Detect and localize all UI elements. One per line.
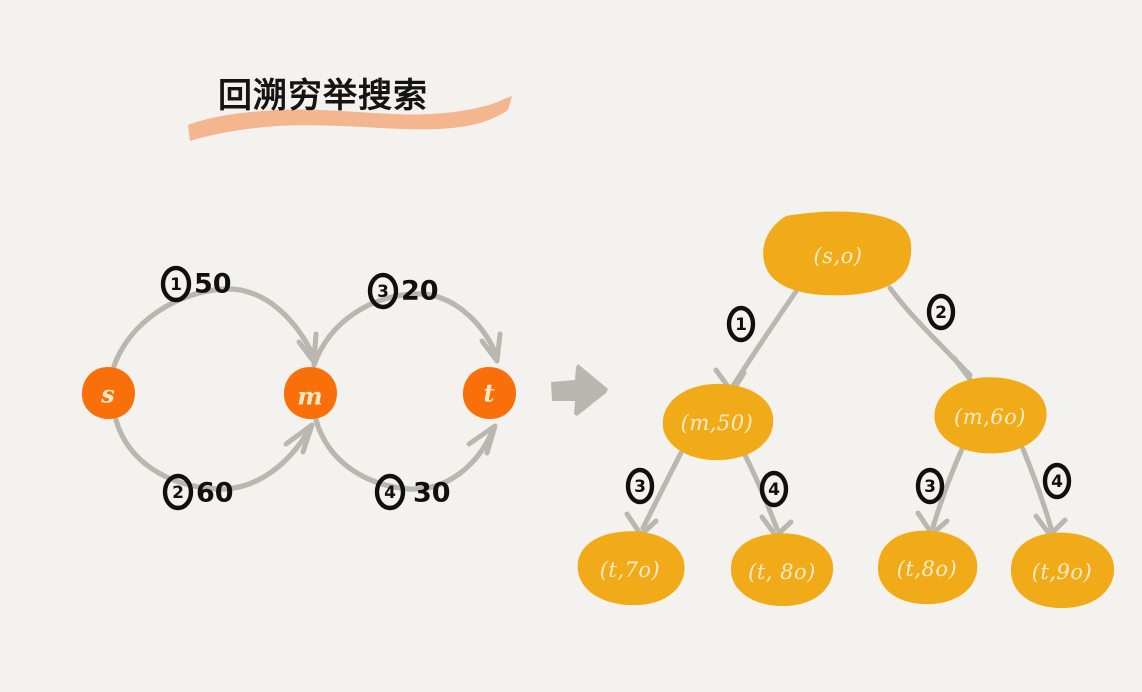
circled-number: 3: [634, 477, 646, 497]
graph-edge-m-t-bottom: [316, 420, 495, 489]
edge-weight: 30: [413, 478, 451, 509]
title-group: 回溯穷举搜索: [188, 76, 512, 141]
circled-number: 4: [384, 483, 396, 503]
circled-number: 2: [935, 303, 947, 323]
tree-edge-label-root-m50: 1: [729, 308, 753, 340]
tree-edge-label-m50-t70: 3: [628, 470, 652, 502]
backtracking-search-tree: (s,o) (m,50) (m,6o) (t,7o) (t, 8o): [578, 211, 1114, 608]
tree-node-root[interactable]: (s,o): [763, 211, 911, 295]
tree-node-label: (t,8o): [897, 557, 958, 581]
tree-node-label: (s,o): [814, 244, 863, 268]
graph-node-label: m: [297, 382, 322, 411]
state-transition-graph: s m t 1 50 2 60: [82, 268, 516, 509]
edge-weight: 60: [196, 478, 234, 509]
graph-node-label: s: [100, 380, 115, 409]
edge-path: [316, 420, 492, 489]
graph-node-t[interactable]: t: [463, 367, 516, 419]
tree-node-label: (t,9o): [1032, 560, 1093, 584]
graph-node-m[interactable]: m: [284, 367, 337, 419]
tree-node-t70[interactable]: (t,7o): [578, 531, 685, 605]
edge-path: [643, 453, 681, 528]
graph-node-label: t: [483, 379, 494, 408]
tree-node-m50[interactable]: (m,50): [663, 384, 773, 460]
graph-edge-label-4: 4 30: [377, 476, 451, 509]
tree-node-t80-left[interactable]: (t, 8o): [731, 533, 833, 606]
tree-edge-label-m60-t80: 3: [918, 470, 942, 502]
tree-node-t80-right[interactable]: (t,8o): [878, 531, 977, 605]
transform-arrow: [551, 364, 608, 416]
tree-node-label: (m,6o): [954, 405, 1026, 429]
tree-node-m60[interactable]: (m,6o): [934, 377, 1046, 453]
whiteboard-canvas: 回溯穷举搜索: [0, 0, 1142, 692]
edge-path: [933, 449, 962, 527]
edge-weight: 20: [401, 276, 439, 307]
circled-number: 4: [768, 480, 780, 500]
edge-path: [114, 289, 313, 366]
tree-node-label: (t,7o): [600, 558, 661, 582]
circled-number: 1: [170, 275, 182, 295]
arrow-right-icon: [551, 364, 608, 416]
graph-edge-s-m-top: [114, 289, 316, 366]
tree-edge-label-root-m60: 2: [929, 296, 953, 328]
tree-node-label: (m,50): [681, 411, 754, 435]
tree-node-t90[interactable]: (t,9o): [1011, 533, 1114, 608]
circled-number: 3: [924, 477, 936, 497]
tree-edge-root-m50: [716, 290, 797, 392]
tree-edge-label-m60-t90: 4: [1045, 465, 1069, 497]
circled-number: 1: [735, 315, 747, 335]
diagram-surface: 回溯穷举搜索: [0, 0, 1142, 692]
tree-node-label: (t, 8o): [748, 560, 816, 584]
tree-edge-m60-t90: [1023, 449, 1065, 535]
circled-number: 3: [377, 282, 389, 302]
circled-number: 2: [172, 483, 184, 503]
edge-weight: 50: [194, 269, 232, 300]
graph-edge-label-1: 1 50: [163, 268, 232, 300]
circled-number: 4: [1051, 472, 1063, 492]
tree-edge-label-m50-t80: 4: [762, 473, 786, 505]
graph-node-s[interactable]: s: [82, 367, 135, 419]
page-title: 回溯穷举搜索: [218, 76, 428, 116]
